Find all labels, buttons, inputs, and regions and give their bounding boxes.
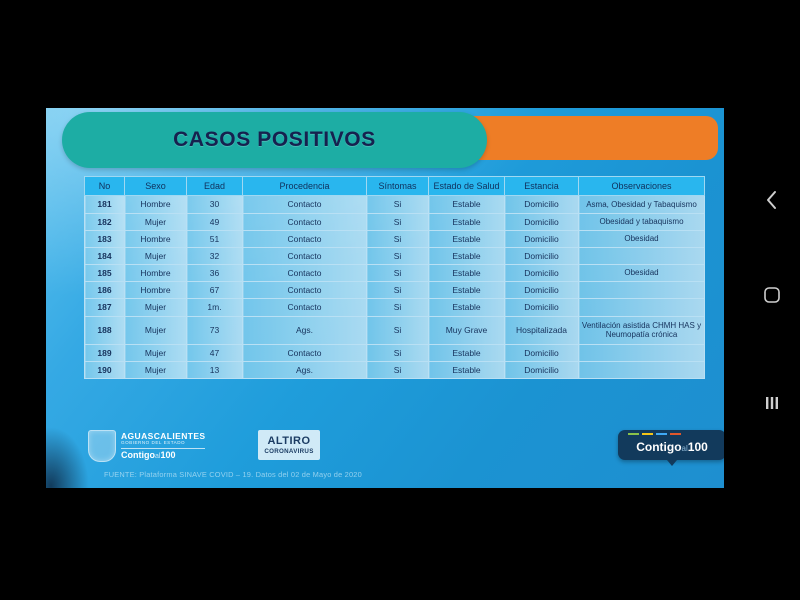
cell-procedencia: Contacto <box>243 344 367 361</box>
contigo-al-100-badge: Contigoal100 <box>618 430 724 460</box>
cell-no: 181 <box>85 196 125 213</box>
cell-no: 189 <box>85 344 125 361</box>
cell-sintomas: Si <box>367 196 429 213</box>
cell-no: 182 <box>85 213 125 230</box>
cell-estancia: Domicilio <box>505 265 579 282</box>
cell-sintomas: Si <box>367 316 429 344</box>
cell-procedencia: Contacto <box>243 282 367 299</box>
table-row: 181Hombre30ContactoSiEstableDomicilioAsm… <box>85 196 705 213</box>
gob-slogan: Contigoal100 <box>121 451 205 460</box>
back-icon[interactable] <box>744 180 800 220</box>
cell-procedencia: Contacto <box>243 265 367 282</box>
cell-observaciones: Obesidad y tabaquismo <box>579 213 705 230</box>
altiro-subtitle: CORONAVIRUS <box>264 448 313 455</box>
cell-estancia: Hospitalizada <box>505 316 579 344</box>
cell-edad: 73 <box>187 316 243 344</box>
cell-estado-salud: Estable <box>429 362 505 379</box>
cell-procedencia: Contacto <box>243 247 367 264</box>
home-icon[interactable] <box>744 275 800 315</box>
cell-observaciones <box>579 344 705 361</box>
table-row: 183Hombre51ContactoSiEstableDomicilioObe… <box>85 230 705 247</box>
table-row: 187Mujer1m.ContactoSiEstableDomicilio <box>85 299 705 316</box>
source-note: FUENTE: Plataforma SINAVE COVID – 19. Da… <box>104 470 362 479</box>
cell-sintomas: Si <box>367 282 429 299</box>
table-row: 185Hombre36ContactoSiEstableDomicilioObe… <box>85 265 705 282</box>
cell-edad: 30 <box>187 196 243 213</box>
cell-procedencia: Contacto <box>243 213 367 230</box>
cell-edad: 47 <box>187 344 243 361</box>
cell-estancia: Domicilio <box>505 230 579 247</box>
android-navigation-bar <box>744 0 800 600</box>
badge-label: Contigoal100 <box>636 440 708 454</box>
cell-edad: 32 <box>187 247 243 264</box>
cell-procedencia: Ags. <box>243 362 367 379</box>
badge-color-dashes <box>628 433 681 435</box>
cell-observaciones: Obesidad <box>579 230 705 247</box>
cell-sexo: Hombre <box>125 265 187 282</box>
col-header-edad: Edad <box>187 177 243 196</box>
cell-procedencia: Contacto <box>243 299 367 316</box>
col-header-estancia: Estancia <box>505 177 579 196</box>
cell-estado-salud: Estable <box>429 230 505 247</box>
table-row: 189Mujer47ContactoSiEstableDomicilio <box>85 344 705 361</box>
badge-dash <box>656 433 667 435</box>
cell-estado-salud: Muy Grave <box>429 316 505 344</box>
col-header-no: No <box>85 177 125 196</box>
table-row: 182Mujer49ContactoSiEstableDomicilioObes… <box>85 213 705 230</box>
cell-estancia: Domicilio <box>505 213 579 230</box>
cell-edad: 13 <box>187 362 243 379</box>
cell-sintomas: Si <box>367 299 429 316</box>
cell-sintomas: Si <box>367 344 429 361</box>
cell-observaciones: Obesidad <box>579 265 705 282</box>
cell-sexo: Hombre <box>125 282 187 299</box>
cell-estancia: Domicilio <box>505 282 579 299</box>
cell-sintomas: Si <box>367 247 429 264</box>
cell-no: 188 <box>85 316 125 344</box>
table-row: 190Mujer13Ags.SiEstableDomicilio <box>85 362 705 379</box>
table-header-row: No Sexo Edad Procedencia Síntomas Estado… <box>85 177 705 196</box>
page-title: CASOS POSITIVOS <box>173 128 376 152</box>
badge-dash <box>628 433 639 435</box>
cell-observaciones: Ventilación asistida CHMH HAS y Neumopat… <box>579 316 705 344</box>
table-row: 186Hombre67ContactoSiEstableDomicilio <box>85 282 705 299</box>
cell-sexo: Mujer <box>125 213 187 230</box>
cell-estado-salud: Estable <box>429 265 505 282</box>
badge-dash <box>670 433 681 435</box>
cell-estancia: Domicilio <box>505 344 579 361</box>
cell-edad: 67 <box>187 282 243 299</box>
cell-no: 183 <box>85 230 125 247</box>
cell-estancia: Domicilio <box>505 299 579 316</box>
divider <box>121 448 205 449</box>
cell-estado-salud: Estable <box>429 213 505 230</box>
col-header-procedencia: Procedencia <box>243 177 367 196</box>
aguascalientes-government-logo: AGUASCALIENTES GOBIERNO DEL ESTADO Conti… <box>88 430 205 462</box>
cell-observaciones <box>579 362 705 379</box>
col-header-sintomas: Síntomas <box>367 177 429 196</box>
cell-estado-salud: Estable <box>429 344 505 361</box>
cell-sexo: Hombre <box>125 230 187 247</box>
cell-sintomas: Si <box>367 213 429 230</box>
cell-observaciones <box>579 247 705 264</box>
presentation-slide: CASOS POSITIVOS No Sexo Edad Procedencia… <box>46 108 724 488</box>
cell-edad: 51 <box>187 230 243 247</box>
altiro-title: ALTIRO <box>267 436 310 447</box>
cell-procedencia: Contacto <box>243 230 367 247</box>
cell-observaciones <box>579 299 705 316</box>
table-row: 184Mujer32ContactoSiEstableDomicilio <box>85 247 705 264</box>
cell-edad: 49 <box>187 213 243 230</box>
cell-sintomas: Si <box>367 230 429 247</box>
device-screen: CASOS POSITIVOS No Sexo Edad Procedencia… <box>0 0 800 600</box>
cell-no: 184 <box>85 247 125 264</box>
col-header-estado-salud: Estado de Salud <box>429 177 505 196</box>
gob-name: AGUASCALIENTES <box>121 432 205 441</box>
table-body: 181Hombre30ContactoSiEstableDomicilioAsm… <box>85 196 705 379</box>
cell-sexo: Mujer <box>125 344 187 361</box>
cell-sexo: Mujer <box>125 299 187 316</box>
cell-observaciones: Asma, Obesidad y Tabaquismo <box>579 196 705 213</box>
cell-no: 185 <box>85 265 125 282</box>
cell-procedencia: Contacto <box>243 196 367 213</box>
cell-estado-salud: Estable <box>429 196 505 213</box>
cell-no: 187 <box>85 299 125 316</box>
recent-apps-icon[interactable] <box>744 383 800 423</box>
cell-sexo: Hombre <box>125 196 187 213</box>
cell-sintomas: Si <box>367 362 429 379</box>
slide-title-banner: CASOS POSITIVOS <box>62 112 487 168</box>
col-header-observaciones: Observaciones <box>579 177 705 196</box>
altiro-coronavirus-logo: ALTIRO CORONAVIRUS <box>258 430 320 460</box>
cell-no: 190 <box>85 362 125 379</box>
cell-estado-salud: Estable <box>429 282 505 299</box>
cell-estado-salud: Estable <box>429 247 505 264</box>
cell-estancia: Domicilio <box>505 362 579 379</box>
cell-sintomas: Si <box>367 265 429 282</box>
col-header-sexo: Sexo <box>125 177 187 196</box>
cell-sexo: Mujer <box>125 362 187 379</box>
cell-estancia: Domicilio <box>505 196 579 213</box>
cases-table-wrapper: No Sexo Edad Procedencia Síntomas Estado… <box>84 176 704 379</box>
badge-dash <box>642 433 653 435</box>
cell-estado-salud: Estable <box>429 299 505 316</box>
cell-edad: 1m. <box>187 299 243 316</box>
cell-estancia: Domicilio <box>505 247 579 264</box>
cases-table: No Sexo Edad Procedencia Síntomas Estado… <box>84 176 705 379</box>
cell-sexo: Mujer <box>125 247 187 264</box>
coat-of-arms-icon <box>88 430 116 462</box>
gob-sub: GOBIERNO DEL ESTADO <box>121 441 205 446</box>
cell-procedencia: Ags. <box>243 316 367 344</box>
cell-observaciones <box>579 282 705 299</box>
cell-edad: 36 <box>187 265 243 282</box>
table-row: 188Mujer73Ags.SiMuy GraveHospitalizadaVe… <box>85 316 705 344</box>
cell-sexo: Mujer <box>125 316 187 344</box>
cell-no: 186 <box>85 282 125 299</box>
